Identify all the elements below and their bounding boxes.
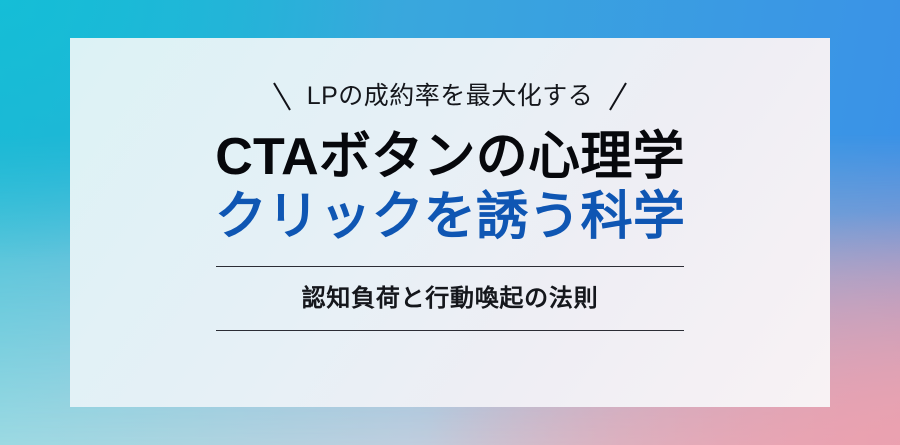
- divider-bottom: [216, 330, 684, 331]
- eyebrow-text: LPの成約率を最大化する: [307, 84, 594, 109]
- headline-line-1: CTAボタンの心理学: [215, 127, 685, 187]
- backslash-mark-icon: [271, 79, 293, 113]
- eyebrow: LPの成約率を最大化する: [271, 79, 630, 113]
- headline-line-2: クリックを誘う科学: [215, 187, 685, 247]
- divider-top: [216, 266, 684, 267]
- slash-mark-icon: [607, 79, 629, 113]
- content-panel: LPの成約率を最大化する CTAボタンの心理学 クリックを誘う科学 認知負荷と行…: [70, 38, 830, 407]
- subtitle-block: 認知負荷と行動喚起の法則: [216, 266, 684, 331]
- promo-banner: LPの成約率を最大化する CTAボタンの心理学 クリックを誘う科学 認知負荷と行…: [0, 0, 900, 445]
- subtitle-text: 認知負荷と行動喚起の法則: [302, 267, 599, 330]
- headline: CTAボタンの心理学 クリックを誘う科学: [215, 127, 685, 248]
